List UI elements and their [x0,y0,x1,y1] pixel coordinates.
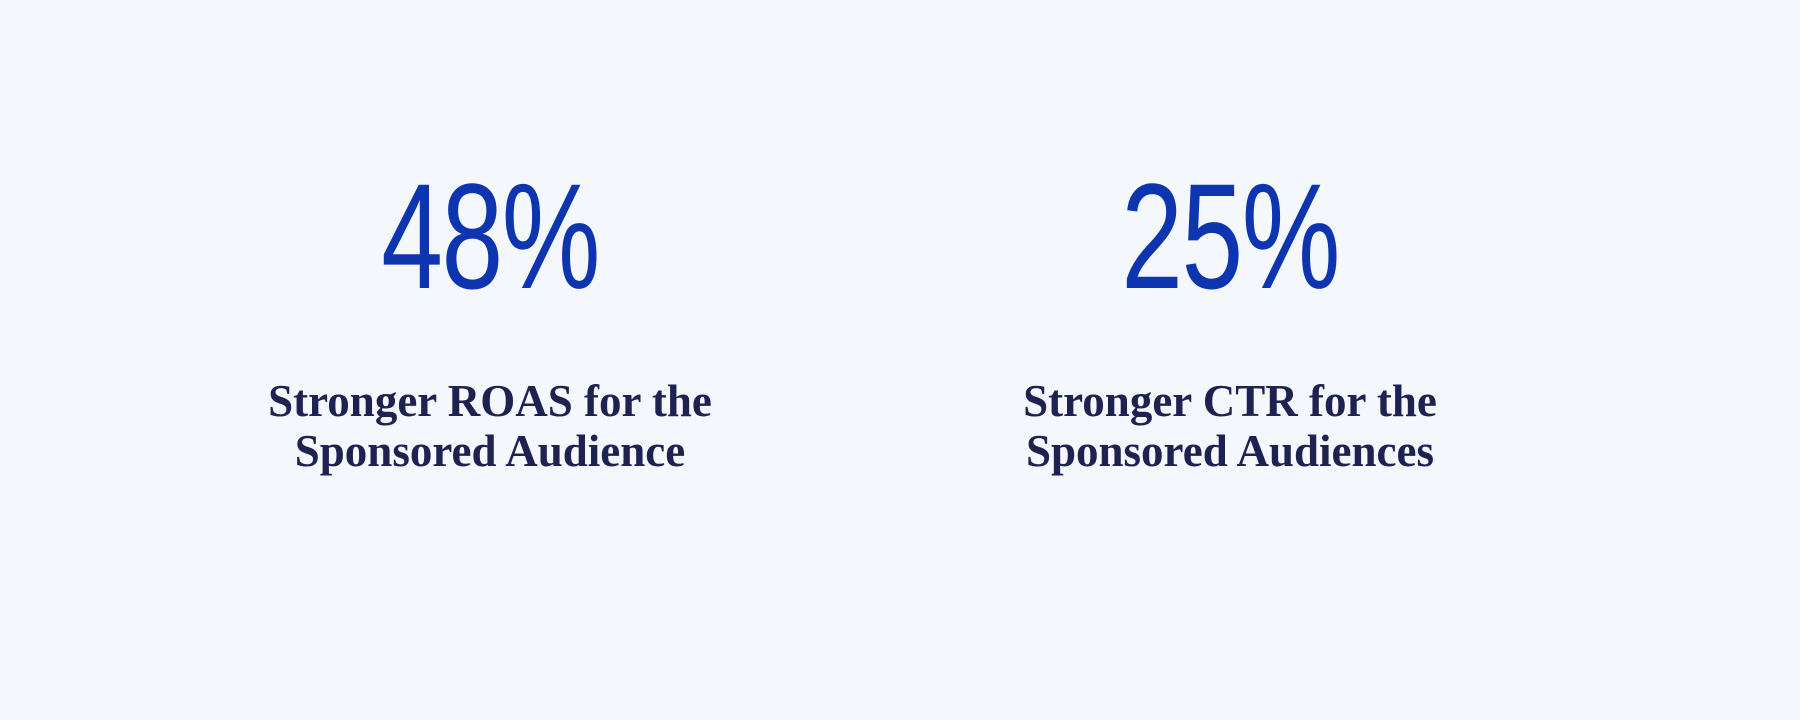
stat-block-ctr: 25% Stronger CTR for the Sponsored Audie… [920,175,1540,477]
stat-value-ctr: 25% [1121,175,1339,298]
stat-block-roas: 48% Stronger ROAS for the Sponsored Audi… [180,175,800,477]
stat-label-roas: Stronger ROAS for the Sponsored Audience [268,376,712,477]
stat-value-roas: 48% [381,175,599,298]
stat-label-ctr-line-2: Sponsored Audiences [1023,426,1437,476]
stat-label-ctr: Stronger CTR for the Sponsored Audiences [1023,376,1437,477]
stats-section: 48% Stronger ROAS for the Sponsored Audi… [0,0,1800,720]
stats-row: 48% Stronger ROAS for the Sponsored Audi… [0,175,1800,477]
stat-label-roas-line-2: Sponsored Audience [268,426,712,476]
stat-label-roas-line-1: Stronger ROAS for the [268,376,712,426]
stat-label-ctr-line-1: Stronger CTR for the [1023,376,1437,426]
